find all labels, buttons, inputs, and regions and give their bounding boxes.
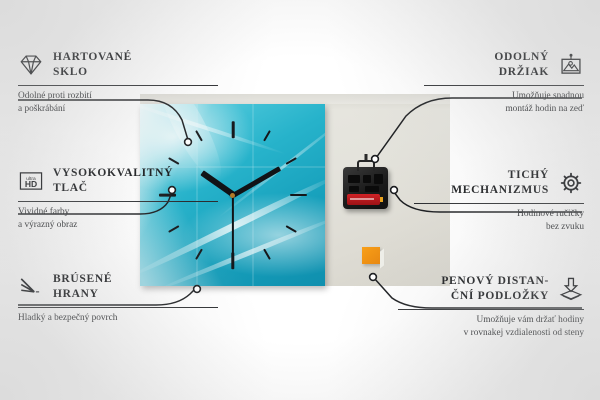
mechanism-detail <box>374 174 383 184</box>
battery-label-stripe <box>350 198 374 200</box>
gear-icon <box>558 170 584 196</box>
clock-tick <box>231 121 234 138</box>
ultra-hd-icon: ultra HD <box>18 168 44 194</box>
feature-description: Hodinové ručičky bez zvuku <box>414 208 584 233</box>
feature-title-line1: ODOLNÝ <box>494 50 549 65</box>
mechanism-detail <box>365 186 379 192</box>
feature-title: PENOVÝ DISTAN- ČNÍ PODLOŽKY <box>441 274 549 304</box>
feature-title: ODOLNÝ DRŽIAK <box>494 50 549 80</box>
feature-foam-spacers: PENOVÝ DISTAN- ČNÍ PODLOŽKY Umožňuje vám… <box>398 274 584 339</box>
feature-title-line1: VYSOKOKVALITNÝ <box>53 166 173 181</box>
feature-description: Umožňuje vám držať hodiny v rovnakej vzd… <box>398 314 584 339</box>
feature-desc-line1: Umožňuje snadnou <box>424 90 584 102</box>
clock-center-pin <box>230 193 235 198</box>
clock-tick <box>290 194 307 197</box>
feature-divider <box>398 309 584 310</box>
feature-title: VYSOKOKVALITNÝ TLAČ <box>53 166 173 196</box>
feature-desc-line1: Odolné proti rozbití <box>18 90 218 102</box>
feature-divider <box>424 85 584 86</box>
feature-desc-line2: v rovnakej vzdialenosti od steny <box>398 327 584 339</box>
foam-pad-arrow-icon <box>558 276 584 302</box>
feature-desc-line1: Vividné farby <box>18 206 218 218</box>
feature-header: BRÚSENÉ HRANY <box>18 272 218 302</box>
feature-title-line1: HARTOVANÉ <box>53 50 132 65</box>
clock-mechanism <box>343 167 388 209</box>
ultra-hd-icon-main-text: HD <box>25 179 37 189</box>
feature-header: TICHÝ MECHANIZMUS <box>414 168 584 198</box>
feature-desc-line1: Umožňuje vám držať hodiny <box>398 314 584 326</box>
feature-description: Umožňuje snadnou montáž hodin na zeď <box>424 90 584 115</box>
mechanism-detail <box>363 175 371 183</box>
mechanism-hanger-hook <box>357 160 375 171</box>
feature-desc-line2: bez zvuku <box>414 221 584 233</box>
feature-title-line1: PENOVÝ DISTAN- <box>441 274 549 289</box>
foam-spacer-pad <box>362 247 380 264</box>
feature-header: ultra HD VYSOKOKVALITNÝ TLAČ <box>18 166 218 196</box>
mechanism-battery <box>347 194 380 205</box>
feature-beveled-edges: BRÚSENÉ HRANY Hladký a bezpečný povrch <box>18 272 218 325</box>
feature-description: Vividné farby a výrazný obraz <box>18 206 218 231</box>
feature-desc-line2: a poškrábání <box>18 103 218 115</box>
feature-header: HARTOVANÉ SKLO <box>18 50 218 80</box>
feature-durable-bracket: ODOLNÝ DRŽIAK Umožňuje snadnou montáž ho… <box>424 50 584 115</box>
feature-high-quality-print: ultra HD VYSOKOKVALITNÝ TLAČ Vividné far… <box>18 166 218 231</box>
feature-divider <box>18 85 218 86</box>
feature-divider <box>18 201 218 202</box>
feature-hardened-glass: HARTOVANÉ SKLO Odolné proti rozbití a po… <box>18 50 218 115</box>
feature-desc-line1: Hodinové ručičky <box>414 208 584 220</box>
feature-title-line2: SKLO <box>53 65 132 80</box>
mechanism-detail <box>348 175 360 183</box>
glass-pane-line <box>252 104 254 286</box>
feature-silent-mechanism: TICHÝ MECHANIZMUS Hodinové ručičky bez z… <box>414 168 584 233</box>
feature-title-line1: TICHÝ <box>451 168 549 183</box>
feature-title: TICHÝ MECHANIZMUS <box>451 168 549 198</box>
picture-frame-hanger-icon <box>558 52 584 78</box>
feature-description: Hladký a bezpečný povrch <box>18 312 218 324</box>
feature-description: Odolné proti rozbití a poškrábání <box>18 90 218 115</box>
feature-header: PENOVÝ DISTAN- ČNÍ PODLOŽKY <box>398 274 584 304</box>
clock-tick <box>263 130 271 141</box>
feature-title: BRÚSENÉ HRANY <box>53 272 112 302</box>
clock-minute-hand <box>231 166 280 197</box>
infographic-stage: HARTOVANÉ SKLO Odolné proti rozbití a po… <box>0 0 600 400</box>
clock-tick <box>231 252 234 269</box>
feature-desc-line2: montáž hodin na zeď <box>424 103 584 115</box>
feature-title-line1: BRÚSENÉ <box>53 272 112 287</box>
clock-tick <box>286 157 297 165</box>
feature-title: HARTOVANÉ SKLO <box>53 50 132 80</box>
feature-title-line2: ČNÍ PODLOŽKY <box>441 289 549 304</box>
clock-tick <box>263 248 271 259</box>
feature-divider <box>18 307 218 308</box>
feature-title-line2: DRŽIAK <box>494 65 549 80</box>
feature-header: ODOLNÝ DRŽIAK <box>424 50 584 80</box>
feature-desc-line2: a výrazný obraz <box>18 219 218 231</box>
feature-title-line2: MECHANIZMUS <box>451 183 549 198</box>
feature-divider <box>414 203 584 204</box>
beveled-edges-icon <box>18 274 44 300</box>
clock-second-hand <box>232 195 234 253</box>
feature-desc-line1: Hladký a bezpečný povrch <box>18 312 218 324</box>
clock-tick <box>286 225 297 233</box>
mechanism-detail <box>349 186 359 192</box>
feature-title-line2: TLAČ <box>53 181 173 196</box>
diamond-icon <box>18 52 44 78</box>
feature-title-line2: HRANY <box>53 287 112 302</box>
